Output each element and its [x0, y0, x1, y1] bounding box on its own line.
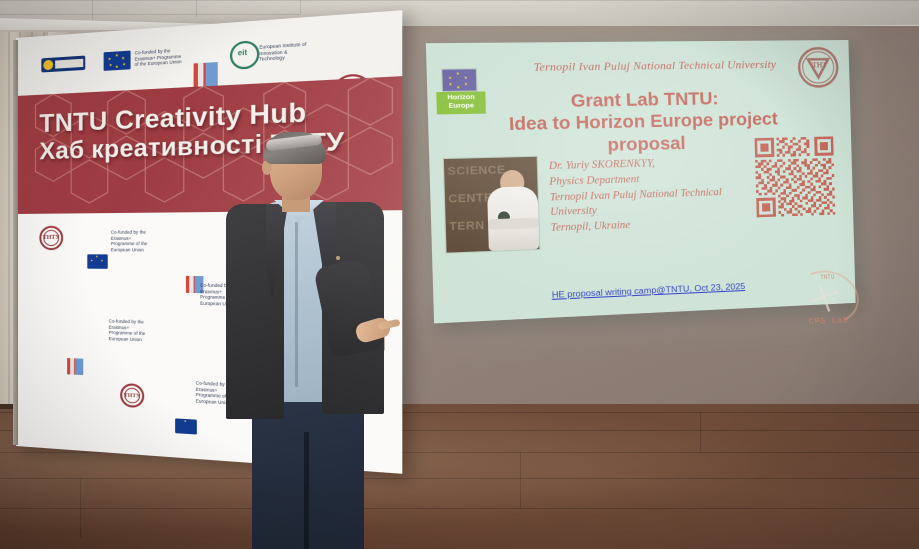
cps-lab-logo-projection: TNTU CPS Lab [791, 267, 864, 331]
photo-backdrop-line1: SCIENCE [447, 164, 506, 178]
speaker-portrait-photo: SCIENCE CENTRE TERN [443, 156, 541, 254]
presenter [226, 132, 396, 549]
svg-text:THT: THT [812, 61, 827, 69]
slide-footer-link: HE proposal writing camp@TNTU, Oct 23, 2… [526, 280, 769, 301]
trouser-seam [304, 432, 309, 549]
tntu-seal-logo: ТНТУ [120, 383, 144, 408]
slide-author-block: Dr. Yuriy SKORENKYY, Physics Department … [549, 154, 772, 237]
eit-caption: European Institute of Innovation & Techn… [259, 41, 310, 63]
erasmus-cofunding-caption: Co-funded by the Erasmus+ Programme of t… [135, 47, 184, 68]
cps-lab-top-label: TNTU [791, 273, 862, 282]
fit-cube-logo [194, 62, 218, 87]
eit-logo: eit [230, 40, 259, 70]
photo-backdrop-line3: TERN [449, 219, 485, 233]
eu-flag-icon: ★★★ [87, 254, 107, 269]
fit-cube-logo [67, 358, 83, 375]
portrait-crossed-arms [488, 218, 539, 230]
banner-support-pole [13, 40, 18, 445]
tntu-seal-logo: ТНТУ [39, 226, 63, 250]
lapel-pin [336, 256, 340, 260]
cps-lab-label: CPS Lab [793, 315, 864, 328]
eu-flag-icon: ★ ★ ★ ★ ★ ★ [104, 51, 131, 71]
erasmus-cofunding-caption: Co-funded by the Erasmus+ Programme of t… [109, 318, 149, 343]
ua-techup-logo [41, 56, 85, 73]
eu-flag-icon: ★ [175, 418, 197, 434]
erasmus-cofunding-caption: Co-funded by the Erasmus+ Programme of t… [111, 229, 151, 253]
eu-flag-icon: ★ ★ ★ ★ ★ ★ [441, 68, 477, 92]
photo-scene: ★ ★ ★ ★ ★ ★ Co-funded by the Erasmus+ Pr… [0, 0, 919, 549]
shirt-placket [295, 222, 298, 387]
slide-university-line: Ternopil Ivan Puluj National Technical U… [495, 58, 811, 74]
